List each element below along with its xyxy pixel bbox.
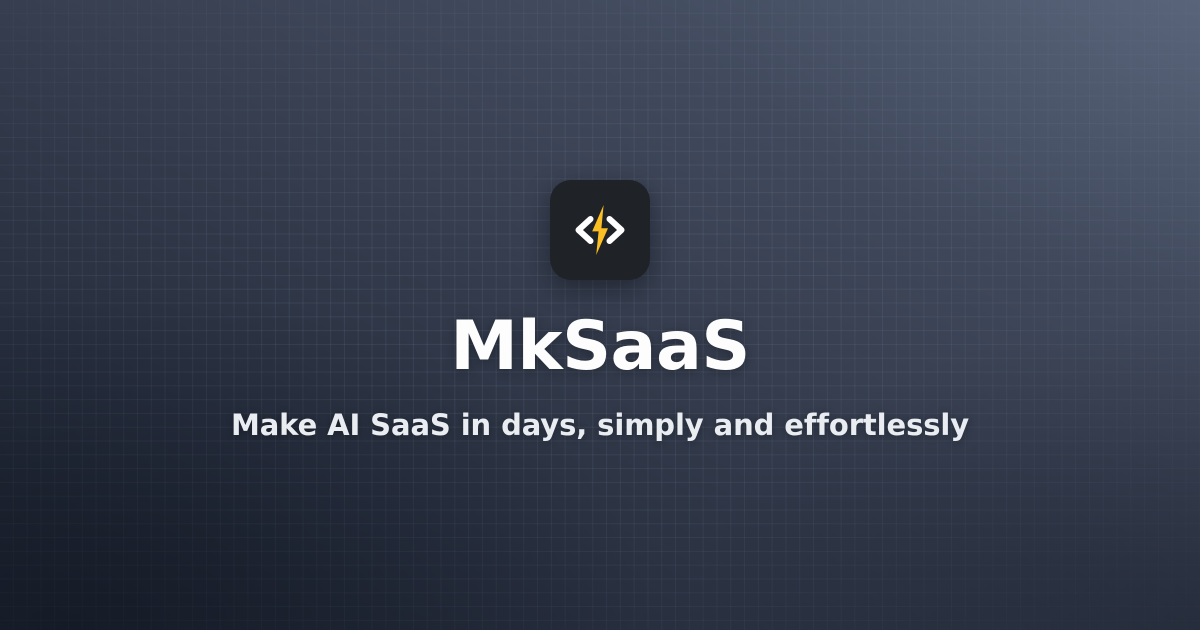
logo-tile [550,180,650,280]
code-bolt-icon [565,195,635,265]
page-title: MkSaaS [450,313,750,381]
page-tagline: Make AI SaaS in days, simply and effortl… [231,408,969,443]
card-content: MkSaaS Make AI SaaS in days, simply and … [0,0,1200,630]
og-card: MkSaaS Make AI SaaS in days, simply and … [0,0,1200,630]
